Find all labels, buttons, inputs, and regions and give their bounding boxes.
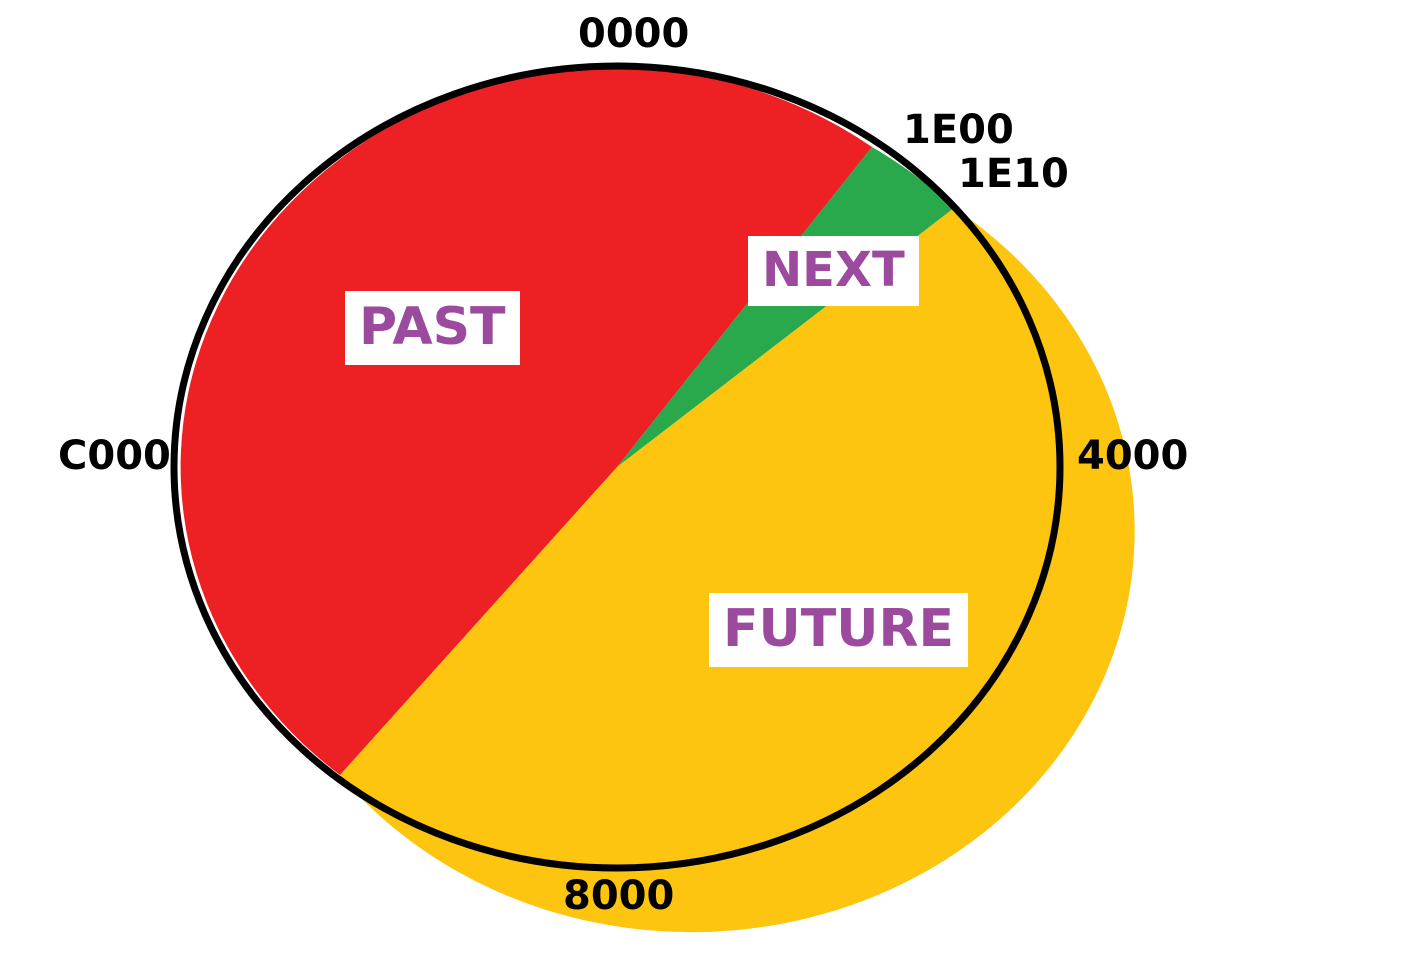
pie-chart-svg <box>0 0 1404 949</box>
wedge-label-future: FUTURE <box>709 593 968 667</box>
tick-label-0000: 0000 <box>578 14 689 54</box>
tick-label-1e00: 1E00 <box>903 110 1014 150</box>
tick-label-8000: 8000 <box>563 876 674 916</box>
sequence-number-wrap-diagram: 0000 1E00 1E10 4000 8000 C000 PAST NEXT … <box>0 0 1404 949</box>
wedge-label-next: NEXT <box>748 236 919 306</box>
wedge-label-past: PAST <box>345 291 520 365</box>
tick-label-1e10: 1E10 <box>958 154 1069 194</box>
tick-label-c000: C000 <box>58 436 171 476</box>
tick-label-4000: 4000 <box>1077 436 1188 476</box>
